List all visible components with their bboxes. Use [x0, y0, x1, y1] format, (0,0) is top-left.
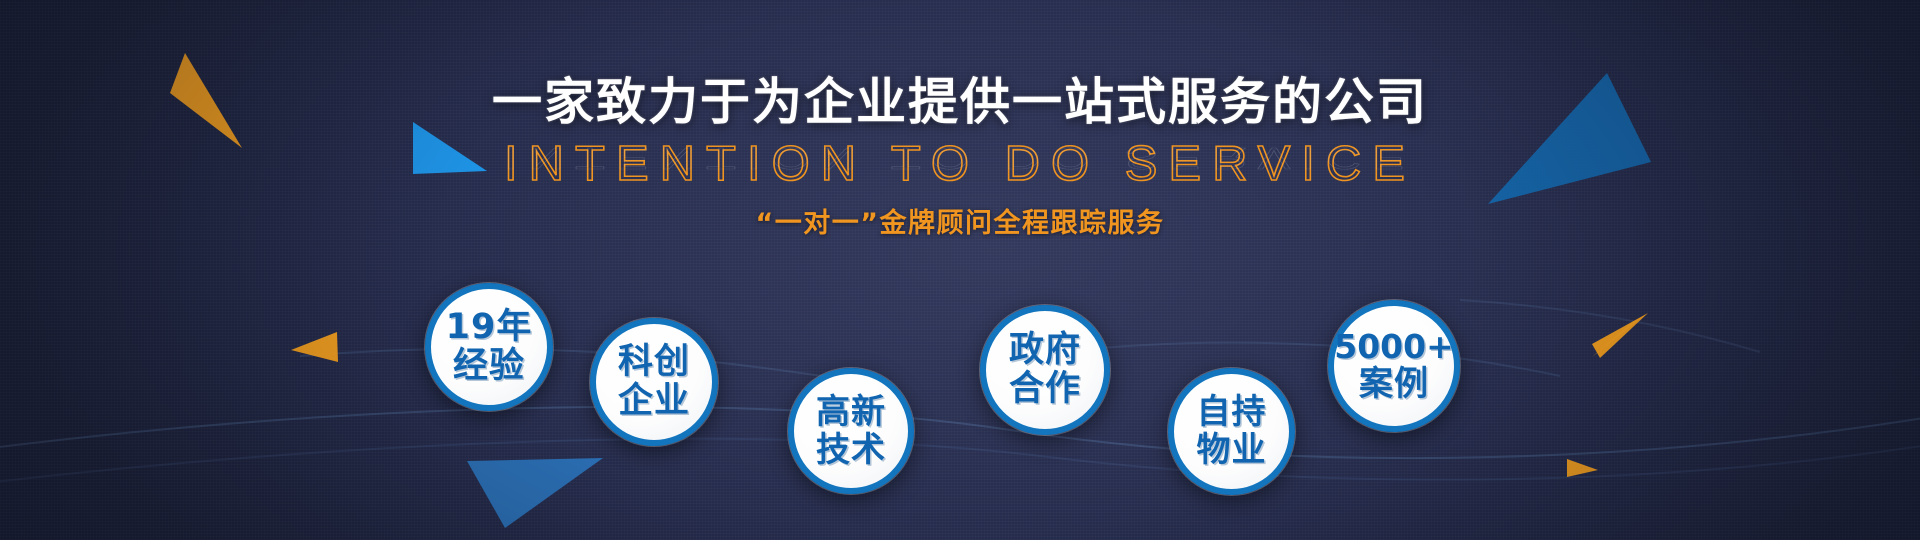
- subtitle-en-wrapper: INTENTION TO DO SERVICE INTENTION TO DO …: [0, 138, 1920, 206]
- triangle-orange-bottom-right: [1567, 459, 1598, 477]
- hero-banner: 一家致力于为企业提供一站式服务的公司 INTENTION TO DO SERVI…: [0, 0, 1920, 540]
- badge-tech-innovation-enterprise[interactable]: 科创 企业: [590, 318, 718, 446]
- triangle-orange-mid-right-2: [1592, 313, 1648, 358]
- badge-19-years-experience[interactable]: 19年 经验: [425, 283, 553, 411]
- triangle-orange-mid-left: [291, 332, 338, 362]
- badge-5000-plus-cases[interactable]: 5000+ 案例: [1328, 300, 1460, 432]
- badge-line-2: 经验: [453, 349, 525, 385]
- badge-line-2: 物业: [1197, 433, 1267, 468]
- badge-high-new-technology[interactable]: 高新 技术: [788, 368, 914, 494]
- badge-line-1: 自持: [1197, 395, 1267, 430]
- tagline: “一对一”金牌顾问全程跟踪服务: [0, 208, 1920, 240]
- triangle-blue-bottom-left: [467, 458, 603, 528]
- badge-line-2: 技术: [816, 433, 886, 468]
- badge-line-2: 案例: [1359, 367, 1429, 402]
- badge-line-1: 政府: [1009, 333, 1081, 369]
- badge-government-cooperation[interactable]: 政府 合作: [980, 305, 1110, 435]
- subtitle-en: INTENTION TO DO SERVICE: [0, 138, 1920, 190]
- badge-line-2: 企业: [618, 384, 690, 420]
- badge-line-1: 5000+: [1334, 330, 1454, 364]
- badge-line-1: 科创: [618, 345, 690, 381]
- badge-line-1: 高新: [816, 395, 886, 430]
- badge-line-2: 合作: [1009, 372, 1081, 408]
- headline-group: 一家致力于为企业提供一站式服务的公司 INTENTION TO DO SERVI…: [0, 0, 1920, 240]
- page-title: 一家致力于为企业提供一站式服务的公司: [0, 74, 1920, 130]
- badge-self-held-property[interactable]: 自持 物业: [1168, 368, 1295, 495]
- badge-line-1: 19年: [446, 310, 533, 346]
